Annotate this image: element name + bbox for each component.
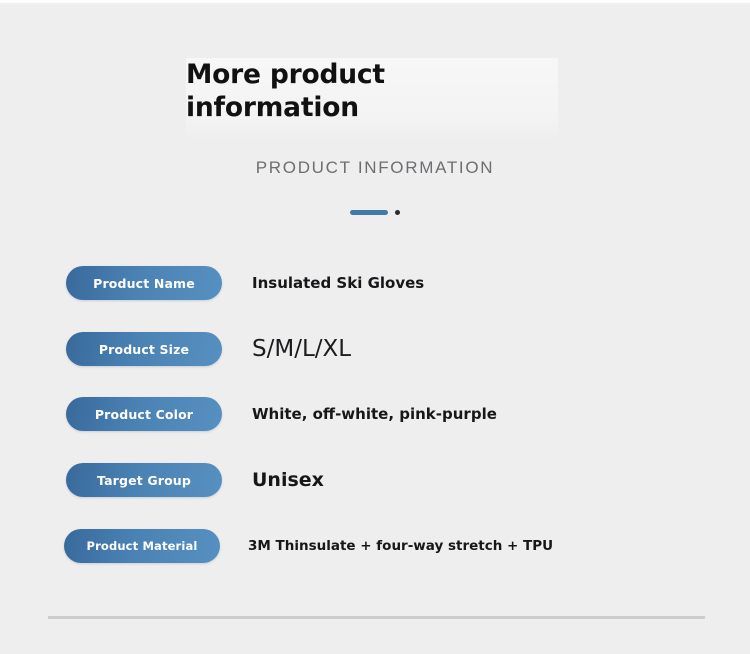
spec-value-product-material: 3M Thinsulate + four-way stretch + TPU	[248, 538, 553, 554]
top-edge-strip	[0, 0, 750, 3]
page-title: More product information	[186, 58, 558, 124]
pagination-dot-2[interactable]	[395, 210, 400, 215]
page-subtitle: PRODUCT INFORMATION	[0, 158, 750, 178]
spec-label-product-material: Product Material	[64, 529, 220, 563]
spec-value-product-size: S/M/L/XL	[252, 336, 351, 362]
spec-value-product-name: Insulated Ski Gloves	[252, 274, 424, 292]
spec-label-product-size: Product Size	[66, 332, 222, 366]
product-information-page: More product information PRODUCT INFORMA…	[0, 0, 750, 654]
spec-label-target-group: Target Group	[66, 463, 222, 497]
spec-row-target-group: Target Group Unisex	[0, 463, 750, 497]
spec-row-product-size: Product Size S/M/L/XL	[0, 332, 750, 366]
spec-row-product-color: Product Color White, off-white, pink-pur…	[0, 397, 750, 431]
spec-row-product-material: Product Material 3M Thinsulate + four-wa…	[0, 529, 750, 563]
spec-label-product-color: Product Color	[66, 397, 222, 431]
header-block: More product information	[186, 58, 558, 142]
spec-value-product-color: White, off-white, pink-purple	[252, 405, 497, 423]
spec-row-product-name: Product Name Insulated Ski Gloves	[0, 266, 750, 300]
spec-value-target-group: Unisex	[252, 469, 324, 491]
pagination-dot-active[interactable]	[350, 210, 388, 215]
bottom-divider	[48, 616, 705, 619]
spec-label-product-name: Product Name	[66, 266, 222, 300]
carousel-pagination[interactable]	[0, 210, 750, 215]
